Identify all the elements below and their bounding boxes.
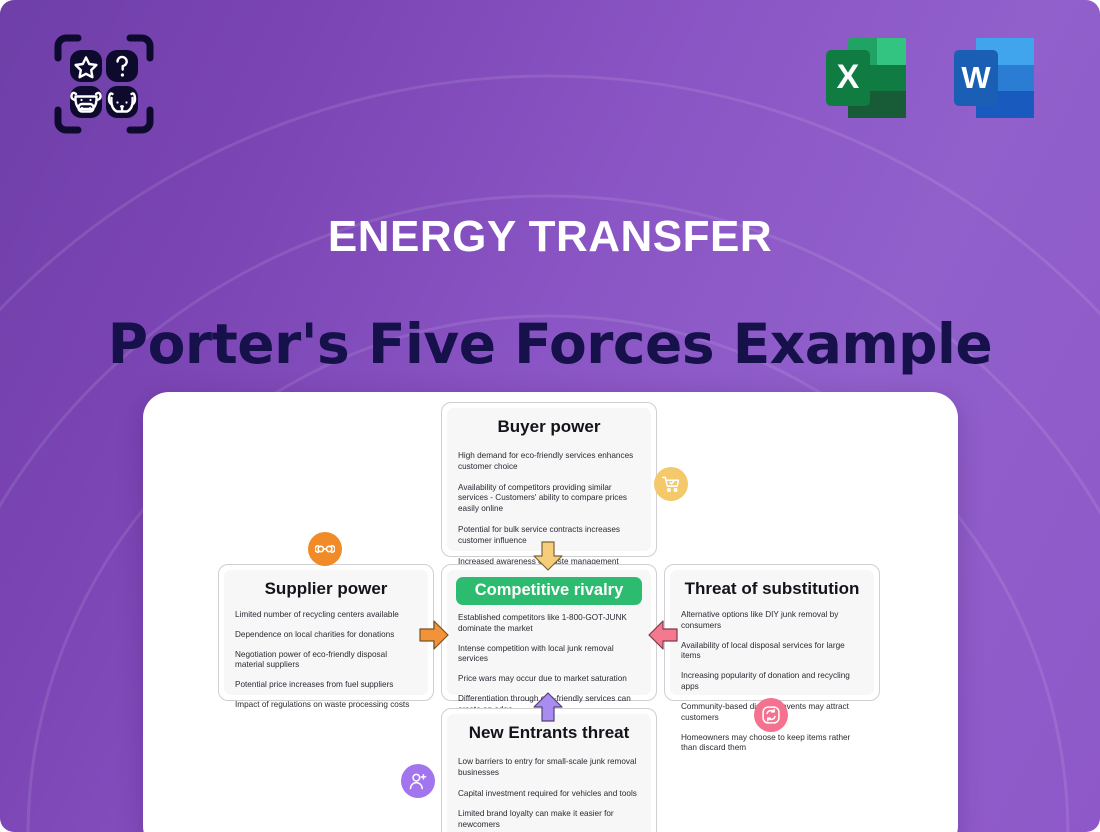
list-item: Availability of local disposal services … xyxy=(681,641,863,663)
force-box-threat-of-substitution[interactable]: Threat of substitution Alternative optio… xyxy=(664,564,880,701)
force-box-inner: New Entrants threat Low barriers to entr… xyxy=(447,714,651,832)
force-box-new-entrants-threat[interactable]: New Entrants threat Low barriers to entr… xyxy=(441,708,657,832)
list-item: Low barriers to entry for small-scale ju… xyxy=(458,757,640,779)
word-icon[interactable]: W xyxy=(944,28,1044,128)
list-item: Homeowners may choose to keep items rath… xyxy=(681,733,863,755)
force-box-inner: Buyer power High demand for eco-friendly… xyxy=(447,408,651,551)
list-item: Capital investment required for vehicles… xyxy=(458,789,640,800)
force-box-inner: Threat of substitution Alternative optio… xyxy=(670,570,874,695)
list-item: Increasing popularity of donation and re… xyxy=(681,671,863,693)
force-box-buyer-power[interactable]: Buyer power High demand for eco-friendly… xyxy=(441,402,657,557)
force-title-new-entrants-threat: New Entrants threat xyxy=(458,723,640,743)
force-list-new-entrants-threat: Low barriers to entry for small-scale ju… xyxy=(458,757,640,832)
arrow-right-icon xyxy=(419,618,449,652)
kicker-text: ENERGY TRANSFER xyxy=(0,212,1100,262)
shopping-cart-icon xyxy=(661,474,681,494)
list-item: Price wars may occur due to market satur… xyxy=(458,674,640,685)
force-list-threat-of-substitution: Alternative options like DIY junk remova… xyxy=(681,610,863,754)
list-item: Impact of regulations on waste processin… xyxy=(235,700,417,711)
force-title-competitive-rivalry: Competitive rivalry xyxy=(456,577,642,605)
list-item: Intense competition with local junk remo… xyxy=(458,644,640,666)
dumbbell-icon xyxy=(315,539,335,559)
brand-logo xyxy=(48,28,160,140)
force-title-buyer-power: Buyer power xyxy=(458,417,640,437)
add-user-icon xyxy=(408,771,428,791)
office-app-icons: X W xyxy=(816,28,1044,128)
list-item: Limited brand loyalty can make it easier… xyxy=(458,809,640,831)
svg-text:W: W xyxy=(961,60,991,95)
force-box-competitive-rivalry[interactable]: Competitive rivalry Established competit… xyxy=(441,564,657,701)
excel-icon[interactable]: X xyxy=(816,28,916,128)
force-title-supplier-power: Supplier power xyxy=(235,579,417,599)
refresh-icon xyxy=(761,705,781,725)
list-item: High demand for eco-friendly services en… xyxy=(458,451,640,473)
list-item: Potential price increases from fuel supp… xyxy=(235,680,417,691)
badge-add-user[interactable] xyxy=(401,764,435,798)
page-title: Porter's Five Forces Example xyxy=(0,312,1100,376)
arrow-up-icon xyxy=(531,692,565,722)
arrow-left-icon xyxy=(648,618,678,652)
question-dot-icon xyxy=(121,73,124,76)
force-list-supplier-power: Limited number of recycling centers avai… xyxy=(235,610,417,711)
badge-refresh[interactable] xyxy=(754,698,788,732)
diagram-card: Buyer power High demand for eco-friendly… xyxy=(143,392,958,832)
badge-shopping-cart[interactable] xyxy=(654,467,688,501)
list-item: Availability of competitors providing si… xyxy=(458,483,640,515)
force-box-inner: Competitive rivalry Established competit… xyxy=(447,570,651,695)
force-box-inner: Supplier power Limited number of recycli… xyxy=(224,570,428,695)
svg-text:X: X xyxy=(837,58,860,96)
arrow-down-icon xyxy=(531,541,565,571)
force-box-supplier-power[interactable]: Supplier power Limited number of recycli… xyxy=(218,564,434,701)
badge-dumbbell[interactable] xyxy=(308,532,342,566)
list-item: Limited number of recycling centers avai… xyxy=(235,610,417,621)
slide-canvas: X W ENERGY TRANSFER Porter's Five Forces… xyxy=(0,0,1100,832)
list-item: Dependence on local charities for donati… xyxy=(235,630,417,641)
list-item: Established competitors like 1-800-GOT-J… xyxy=(458,613,640,635)
list-item: Negotiation power of eco-friendly dispos… xyxy=(235,650,417,672)
force-title-threat-of-substitution: Threat of substitution xyxy=(681,579,863,599)
list-item: Alternative options like DIY junk remova… xyxy=(681,610,863,632)
